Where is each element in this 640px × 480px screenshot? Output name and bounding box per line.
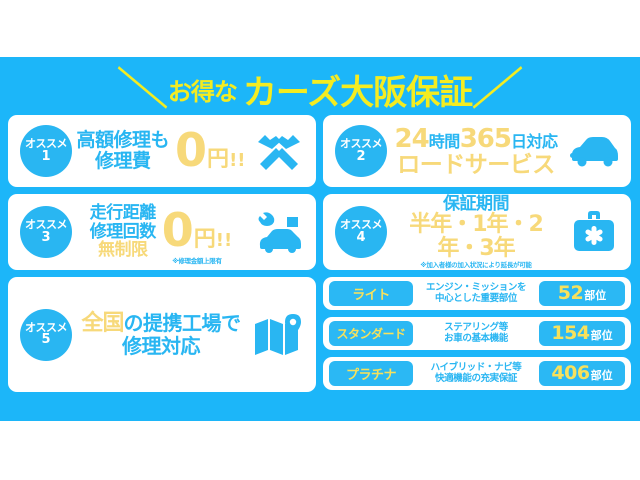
plan-desc-line1: エンジン・ミッションを <box>416 283 536 294</box>
recommend-badge-3: オススメ 3 <box>20 206 72 258</box>
days-unit: 日対応 <box>511 132 558 151</box>
plan-count-number: 52 <box>558 281 583 306</box>
feature-card-2-body: 24時間365日対応 ロードサービス <box>387 125 565 178</box>
header-title-prefix: お得な <box>168 72 237 107</box>
feature-card-3-body: 走行距離 修理回数 無制限 0 円 !! ※修理金額上限有 <box>72 204 250 259</box>
plan-description: ステアリング等 お車の基本機能 <box>413 323 539 345</box>
badge-number: 3 <box>41 231 50 245</box>
nationwide-rest: の提携工場で <box>124 311 241 335</box>
plan-count-unit: 部位 <box>584 283 606 308</box>
plan-name-pill: ライト <box>329 281 413 306</box>
warranty-period-title: 保証期間 <box>391 195 561 213</box>
map-pin-icon <box>250 314 308 356</box>
feature-4-text: 保証期間 半年・1年・2年・3年 ※加入者様の加入状況により延長が可能 <box>391 195 561 270</box>
recommend-badge-4: オススメ 4 <box>335 206 387 258</box>
feature-card-5: オススメ 5 全国の提携工場で 修理対応 <box>8 277 316 392</box>
plan-count-badge: 406 部位 <box>539 361 625 386</box>
hammer-tools-icon <box>250 130 308 172</box>
recommend-badge-2: オススメ 2 <box>335 125 387 177</box>
plan-row-platinum[interactable]: プラチナ ハイブリッド・ナビ等 快適機能の充実保証 406 部位 <box>323 357 631 390</box>
feature-2-line1: 24時間365日対応 <box>395 125 558 153</box>
feature-card-4-body: 保証期間 半年・1年・2年・3年 ※加入者様の加入状況により延長が可能 <box>387 195 565 270</box>
poster-header: ＼ お得な カーズ大阪保証 ／ <box>8 63 632 115</box>
slash-right-decoration: ／ <box>471 67 523 111</box>
car-icon <box>565 135 623 167</box>
car-wrench-icon <box>250 210 308 254</box>
plan-desc-line2: 中心とした重要部位 <box>416 294 536 305</box>
nationwide-highlight: 全国 <box>81 311 123 336</box>
recommend-badge-1: オススメ 1 <box>20 125 72 177</box>
feature-3-price: 0 円 !! ※修理金額上限有 <box>162 210 232 253</box>
price-zero: 0 <box>162 210 194 251</box>
plan-desc-line1: ステアリング等 <box>416 323 536 334</box>
feature-2-text: 24時間365日対応 ロードサービス <box>395 125 558 178</box>
feature-5-text: 全国の提携工場で 修理対応 <box>81 312 240 357</box>
feature-card-1-body: 高額修理も 修理費 0 円 !! <box>72 130 250 173</box>
feature-3-text: 走行距離 修理回数 無制限 <box>90 204 156 259</box>
plan-name-pill: スタンダード <box>329 321 413 346</box>
slash-left-decoration: ＼ <box>117 67 169 111</box>
feature-card-5-body: 全国の提携工場で 修理対応 <box>72 312 250 357</box>
plan-list: ライト エンジン・ミッションを 中心とした重要部位 52 部位 スタンダード ス… <box>323 277 631 392</box>
plan-name-pill: プラチナ <box>329 361 413 386</box>
feature-card-3: オススメ 3 走行距離 修理回数 無制限 0 円 !! ※修理金額上限有 <box>8 194 316 270</box>
feature-1-line2: 修理費 <box>77 151 170 172</box>
price-yen: 円 <box>207 141 229 173</box>
feature-5-line2: 修理対応 <box>81 336 240 358</box>
plan-count-unit: 部位 <box>591 363 613 388</box>
plan-desc-line2: お車の基本機能 <box>416 334 536 345</box>
plan-description: ハイブリッド・ナビ等 快適機能の充実保証 <box>413 363 539 385</box>
features-row-3: オススメ 5 全国の提携工場で 修理対応 <box>8 277 632 392</box>
plan-description: エンジン・ミッションを 中心とした重要部位 <box>413 283 539 305</box>
feature-4-note: ※加入者様の加入状況により延長が可能 <box>391 262 561 269</box>
badge-number: 5 <box>41 333 50 347</box>
feature-3-note: ※修理金額上限有 <box>162 255 232 265</box>
price-zero: 0 <box>175 130 207 171</box>
feature-3-line1: 走行距離 <box>90 204 156 222</box>
plan-row-standard[interactable]: スタンダード ステアリング等 お車の基本機能 154 部位 <box>323 317 631 350</box>
price-exclaim: !! <box>229 150 245 171</box>
feature-card-4: オススメ 4 保証期間 半年・1年・2年・3年 ※加入者様の加入状況により延長が… <box>323 194 631 270</box>
plan-count-badge: 154 部位 <box>539 321 625 346</box>
feature-card-2: オススメ 2 24時間365日対応 ロードサービス <box>323 115 631 187</box>
promo-poster: ＼ お得な カーズ大阪保証 ／ オススメ 1 高額修理も 修理費 0 円 !! <box>0 57 640 421</box>
toolbox-medical-icon <box>565 211 623 253</box>
warranty-period-terms: 半年・1年・2年・3年 <box>391 213 561 261</box>
plan-count-unit: 部位 <box>591 323 613 348</box>
feature-3-line3: 無制限 <box>90 241 156 259</box>
header-title-main: カーズ大阪保証 <box>243 65 472 114</box>
plan-count-badge: 52 部位 <box>539 281 625 306</box>
badge-number: 4 <box>356 231 365 245</box>
plan-count-number: 154 <box>551 321 589 346</box>
plan-desc-line1: ハイブリッド・ナビ等 <box>416 363 536 374</box>
features-row-2: オススメ 3 走行距離 修理回数 無制限 0 円 !! ※修理金額上限有 <box>8 194 632 270</box>
badge-number: 2 <box>356 150 365 164</box>
hours-number: 24 <box>395 124 429 154</box>
plan-row-light[interactable]: ライト エンジン・ミッションを 中心とした重要部位 52 部位 <box>323 277 631 310</box>
price-yen: 円 <box>194 221 216 253</box>
feature-1-line1: 高額修理も <box>77 130 170 151</box>
recommend-badge-5: オススメ 5 <box>20 309 72 361</box>
feature-2-line2: ロードサービス <box>395 153 558 178</box>
hours-unit: 時間 <box>429 132 460 151</box>
features-row-1: オススメ 1 高額修理も 修理費 0 円 !! <box>8 115 632 187</box>
feature-5-line1: 全国の提携工場で <box>81 312 240 336</box>
price-exclaim: !! <box>216 230 232 251</box>
feature-1-text: 高額修理も 修理費 <box>77 130 170 171</box>
feature-3-line2: 修理回数 <box>90 223 156 241</box>
badge-number: 1 <box>41 150 50 164</box>
plan-desc-line2: 快適機能の充実保証 <box>416 374 536 385</box>
feature-1-price: 0 円 !! <box>175 130 245 173</box>
feature-card-1: オススメ 1 高額修理も 修理費 0 円 !! <box>8 115 316 187</box>
days-number: 365 <box>460 124 511 154</box>
plan-count-number: 406 <box>551 361 589 386</box>
